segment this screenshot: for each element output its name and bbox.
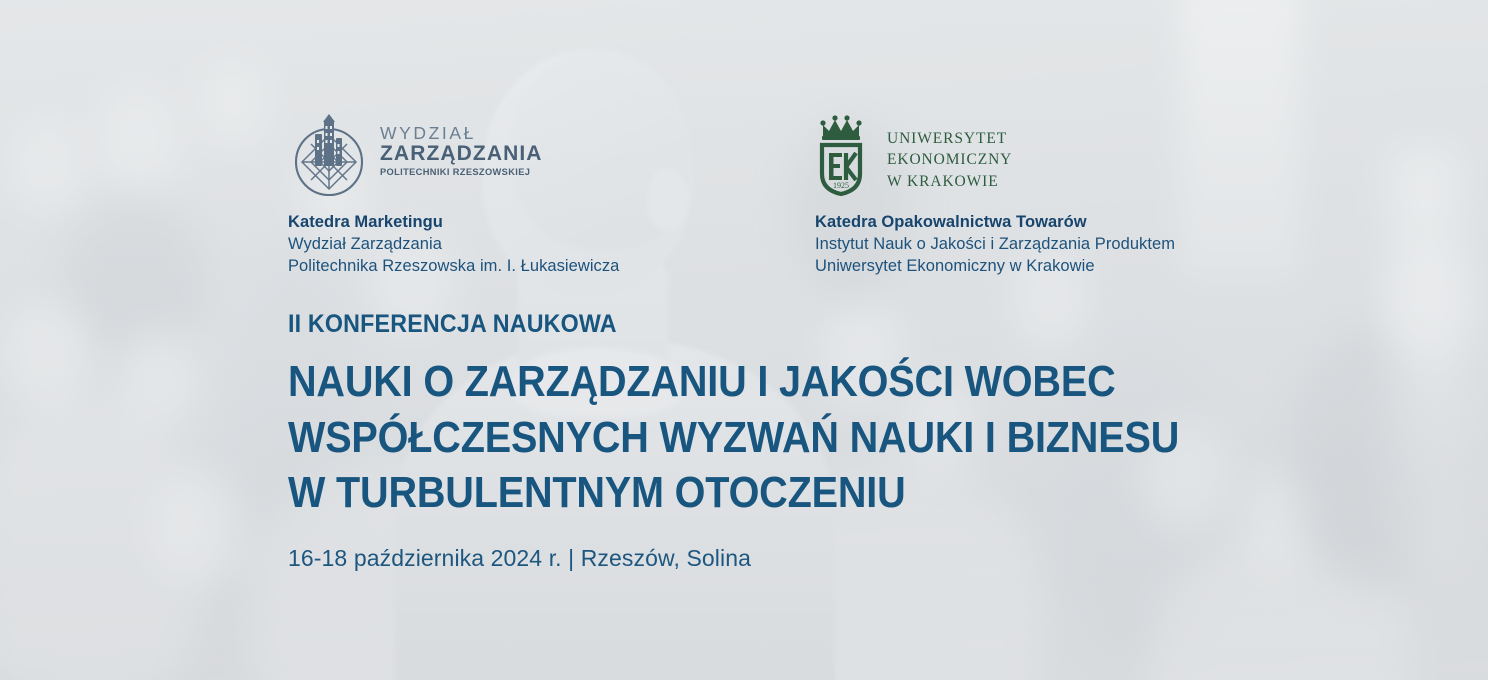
prz-logo-line1: WYDZIAŁ xyxy=(380,124,543,142)
conference-headline: II KONFERENCJA NAUKOWA NAUKI O ZARZĄDZAN… xyxy=(288,312,1278,572)
conference-title-line-2: WSPÓŁCZESNYCH WYZWAŃ NAUKI I BIZNESU xyxy=(288,415,1179,462)
organizer-department: Katedra Opakowalnictwa Towarów xyxy=(815,212,1245,234)
conference-banner: WYDZIAŁ ZARZĄDZANIA POLITECHNIKI RZESZOW… xyxy=(0,0,1488,680)
prz-logo: WYDZIAŁ ZARZĄDZANIA POLITECHNIKI RZESZOW… xyxy=(288,112,708,198)
uek-logo-line1: UNIWERSYTET xyxy=(887,128,1012,149)
uek-logo: 1925 UNIWERSYTET EKONOMICZNY W KRAKOWIE xyxy=(815,112,1245,198)
uek-logo-line3: W KRAKOWIE xyxy=(887,171,1012,192)
conference-title-line-3: W TURBULENTNYM OTOCZENIU xyxy=(288,470,1179,517)
conference-title-line-1: NAUKI O ZARZĄDZANIU I JAKOŚCI WOBEC xyxy=(288,359,1179,406)
conference-kicker: II KONFERENCJA NAUKOWA xyxy=(288,312,1209,337)
organizer-faculty: Wydział Zarządzania xyxy=(288,234,708,256)
organizer-faculty: Instytut Nauk o Jakości i Zarządzania Pr… xyxy=(815,234,1245,256)
prz-logo-line3: POLITECHNIKI RZESZOWSKIEJ xyxy=(380,167,543,178)
conference-date-location: 16-18 października 2024 r. | Rzeszów, So… xyxy=(288,545,1278,573)
organizer-uek: 1925 UNIWERSYTET EKONOMICZNY W KRAKOWIE … xyxy=(815,112,1245,278)
uek-crown-shield-emblem-icon: 1925 xyxy=(815,112,875,198)
prz-circular-lattice-emblem-icon xyxy=(288,112,370,198)
organizer-institution: Politechnika Rzeszowska im. I. Łukasiewi… xyxy=(288,256,708,278)
prz-logo-line2: ZARZĄDZANIA xyxy=(380,142,543,166)
organizer-institution: Uniwersytet Ekonomiczny w Krakowie xyxy=(815,256,1245,278)
uek-logo-line2: EKONOMICZNY xyxy=(887,149,1012,170)
organizer-department: Katedra Marketingu xyxy=(288,212,708,234)
uek-year: 1925 xyxy=(833,181,849,190)
organizer-prz: WYDZIAŁ ZARZĄDZANIA POLITECHNIKI RZESZOW… xyxy=(288,112,708,278)
